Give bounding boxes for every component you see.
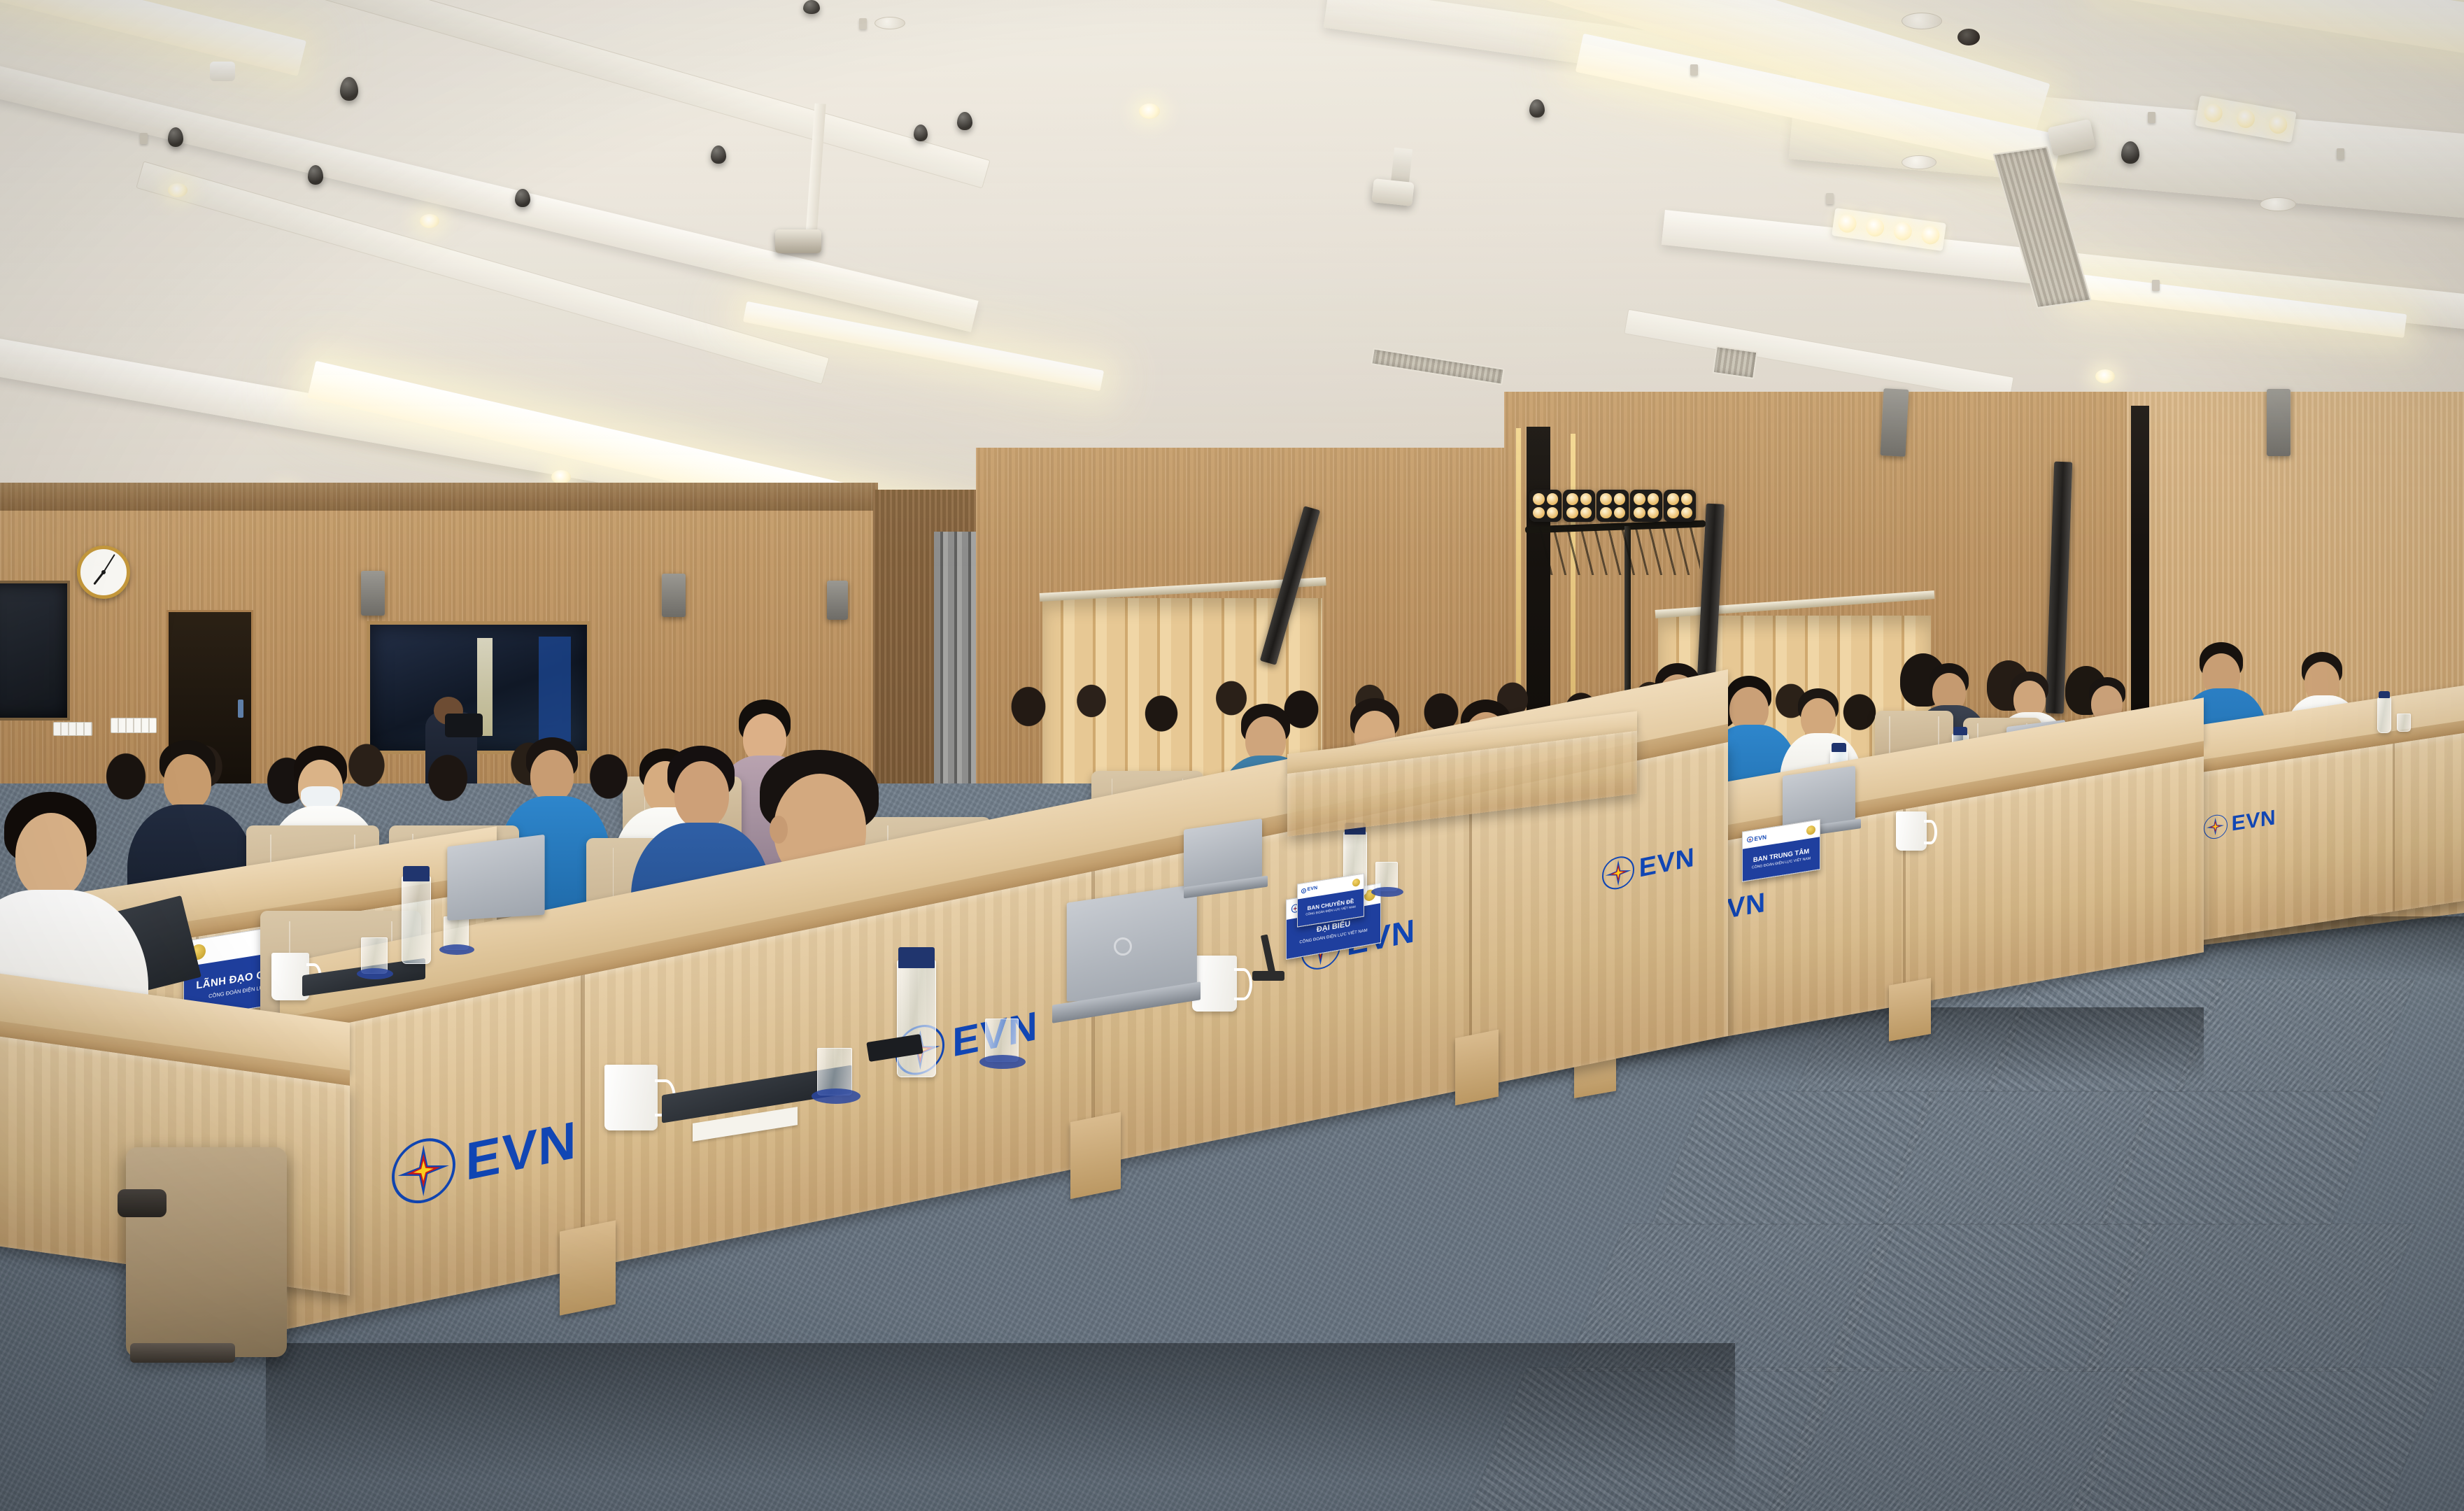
sprinkler-2 [859,18,867,29]
downlight-7 [2095,369,2115,383]
desk-logo-front-main: EVN [392,1108,577,1209]
sprinkler-1 [140,133,148,144]
conference-room-photo: EVN EVN [0,0,2464,1511]
union-emblem-icon [1352,878,1360,887]
dome-camera-9 [957,112,972,130]
downlight-1 [168,183,187,197]
dome-camera-7 [2121,141,2139,164]
sprinkler-6 [2337,148,2344,159]
wall-speaker-5 [2267,389,2290,456]
drinking-glass [2397,714,2411,732]
union-emblem-icon [1806,825,1815,835]
stage-light-cables [1539,526,1700,575]
chair-foreground-armrest [118,1189,167,1217]
desk-shadow-front [266,1343,1735,1483]
stage-light-cluster [1529,490,1707,522]
evn-star-icon [1301,888,1306,894]
smoke-detector-3 [1902,155,1936,169]
wall-speaker-3 [827,581,848,620]
bottle-cap [1953,727,1967,735]
wall-speaker-2 [662,574,686,617]
evn-star-icon [392,1133,455,1209]
back-wall-upper-band [0,483,878,511]
ceiling-speaker-1 [210,62,235,81]
evn-coaster [979,1055,1026,1069]
desk-panel-seam [2393,744,2395,911]
bottle-cap [1832,743,1846,752]
nameplate-evn-text: EVN [1308,886,1318,893]
evn-star-icon [1747,836,1753,843]
wall-clock [77,546,130,599]
downlight-4 [551,470,571,484]
nameplate-evn-text: EVN [1755,834,1767,842]
head [674,761,729,828]
evn-coaster [1371,887,1403,897]
hvac-grille-2 [1713,346,1758,379]
evn-coaster [439,944,474,955]
ceiling-speaker-dome-1 [1957,29,1980,45]
desk-leg [1070,1112,1121,1199]
par-light-4 [1630,490,1662,522]
downlight-2 [420,214,439,228]
wall-speaker-1 [361,571,385,616]
evn-star-icon [1602,853,1634,892]
dome-camera-5 [515,189,530,207]
coffee-mug [1896,811,1927,851]
bottle-cap-midleft [403,866,430,881]
par-light-1 [1529,490,1562,522]
chair-foreground-base [130,1343,235,1363]
laptop-lid-logo [1114,937,1132,956]
evn-star-icon [2204,813,2228,840]
smoke-detector-1 [875,17,905,29]
water-bottle [2377,697,2391,733]
wall-display-screen [0,581,70,721]
sprinkler-5 [2152,280,2160,291]
dome-camera-8 [1529,99,1545,118]
bottle-cap-front [898,947,935,968]
dome-camera-6 [711,146,726,164]
nameplate-evn-logo: EVN [1747,834,1766,843]
dome-camera-1 [340,77,358,101]
water-bottle-front [897,960,936,1077]
head [530,750,574,802]
projector-head [775,229,821,253]
sprinkler-7 [1826,193,1834,204]
ceiling-projector-2 [1371,178,1414,206]
desk-panel-seam [581,974,585,1269]
nameplate-evn-logo: EVN [1301,886,1317,894]
smoke-detector-4 [2260,197,2296,211]
desk-leg [1889,978,1931,1042]
carpet-tile [2069,1368,2444,1511]
smoke-detector-2 [1902,13,1942,29]
par-light-2 [1563,490,1595,522]
laptop-open-midleft[interactable] [447,835,544,921]
desk-leg [560,1220,616,1315]
water-bottle-midleft [402,876,431,964]
downlight-3 [1139,104,1160,119]
desk-leg [1455,1030,1499,1106]
dome-camera-2 [803,0,820,14]
dome-camera-4 [308,165,323,185]
head [15,813,87,898]
chair-foreground-left[interactable] [126,1147,287,1357]
desk-logo-front-4-text: EVN [1639,844,1695,881]
laptop-open-screen-front[interactable] [1067,884,1197,1002]
evn-coaster [812,1088,861,1104]
wall-speaker-4 [1881,388,1909,457]
desk-logo-front-4: EVN [1602,842,1695,892]
par-light-3 [1596,490,1629,522]
coffee-mug-front-left [604,1065,658,1130]
sprinkler-4 [2148,112,2155,123]
bottle-cap [2379,691,2390,698]
dome-camera-10 [914,125,928,141]
desk-logo-row3-3: EVN [2204,806,2276,840]
desk-logo-front-main-text: EVN [466,1113,578,1189]
evn-coaster [357,968,393,979]
par-light-5 [1664,490,1696,522]
head [164,754,211,810]
sprinkler-3 [1690,64,1698,76]
dome-camera-3 [168,127,183,147]
ear [770,816,788,844]
microphone-base [1252,971,1284,981]
door-handle[interactable] [238,700,243,718]
desk-logo-row3-3-text: EVN [2232,807,2277,835]
